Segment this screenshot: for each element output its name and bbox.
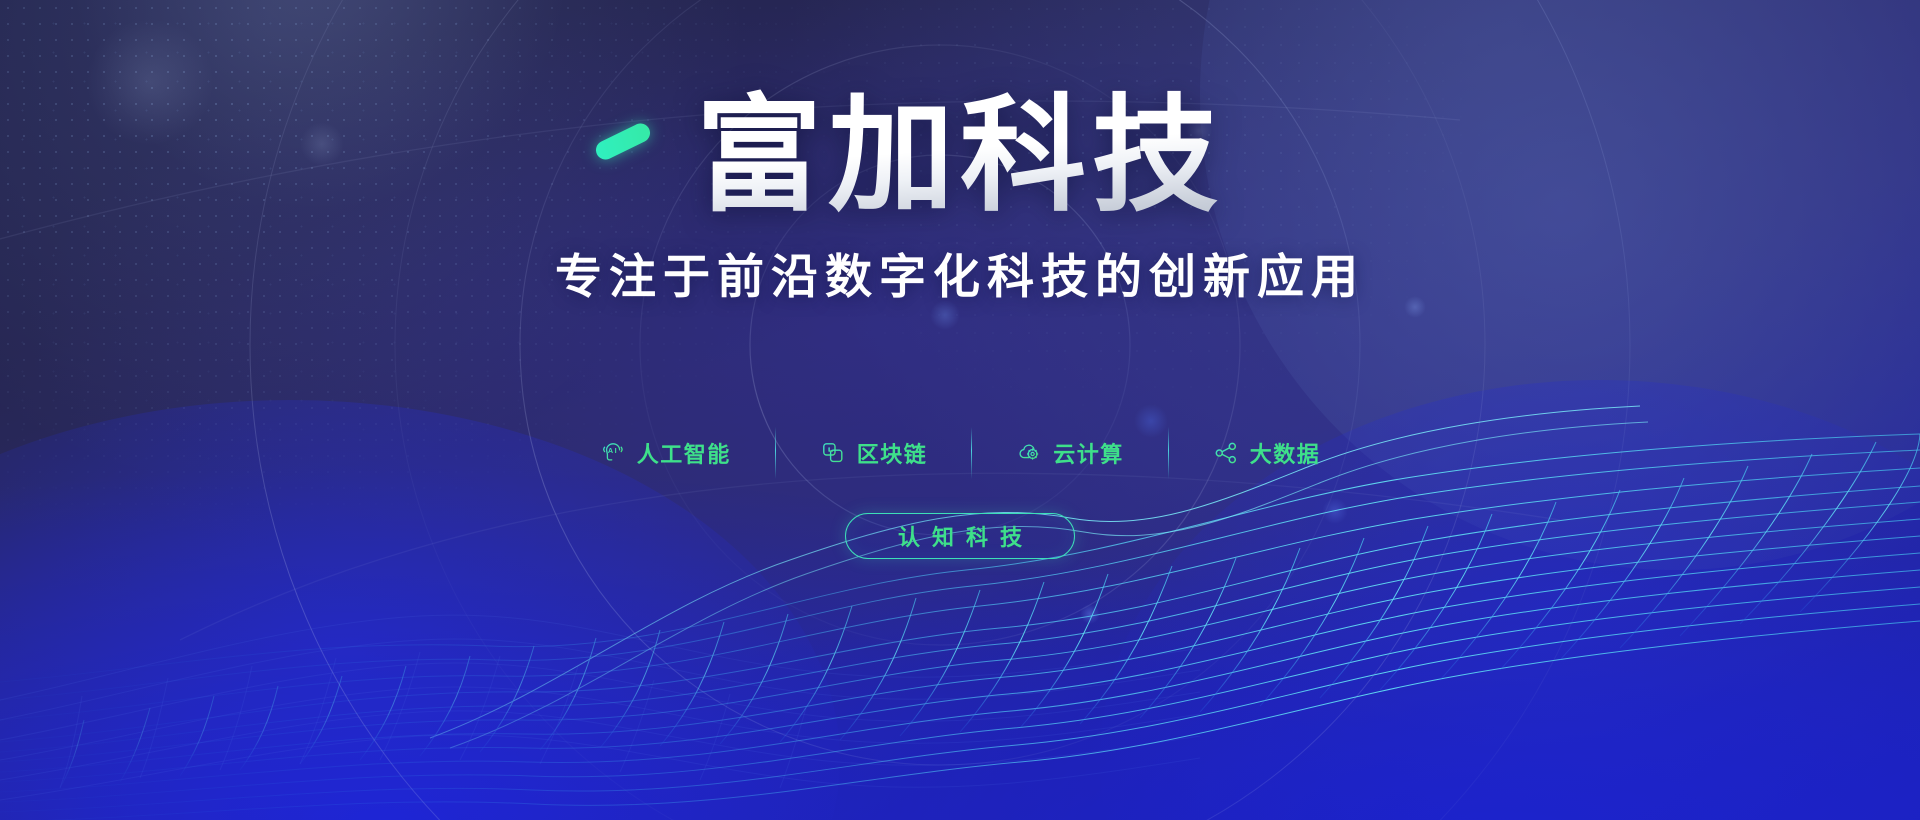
blockchain-blocks-icon bbox=[820, 440, 846, 466]
feature-tag-ai[interactable]: AI 人工智能 bbox=[556, 437, 775, 469]
brand-logo-text: 富加科技 bbox=[696, 88, 1224, 224]
feature-tag-label: 大数据 bbox=[1250, 437, 1321, 469]
cloud-gear-icon bbox=[1016, 440, 1042, 466]
hero-banner: 富加科技 专注于前沿数字化科技的创新应用 AI bbox=[0, 0, 1920, 820]
svg-text:AI: AI bbox=[608, 446, 618, 455]
feature-tag-blockchain[interactable]: 区块链 bbox=[776, 437, 972, 469]
feature-tag-label: 人工智能 bbox=[637, 437, 731, 469]
feature-tag-label: 云计算 bbox=[1053, 437, 1124, 469]
brand-logo: 富加科技 bbox=[0, 88, 1920, 224]
cognitive-tech-button[interactable]: 认知科技 bbox=[845, 513, 1075, 559]
ai-head-icon: AI bbox=[600, 440, 626, 466]
hero-subtitle: 专注于前沿数字化科技的创新应用 bbox=[555, 238, 1365, 307]
feature-tag-cloud[interactable]: 云计算 bbox=[972, 437, 1168, 469]
feature-tag-list: AI 人工智能 bbox=[0, 427, 1920, 479]
share-network-icon bbox=[1213, 440, 1239, 466]
hero-subtitle-wrap: 专注于前沿数字化科技的创新应用 bbox=[0, 238, 1920, 307]
cta-wrap: 认知科技 bbox=[0, 513, 1920, 559]
brand-accent-stroke bbox=[593, 120, 653, 163]
feature-tag-bigdata[interactable]: 大数据 bbox=[1169, 437, 1365, 469]
feature-tag-label: 区块链 bbox=[857, 437, 928, 469]
